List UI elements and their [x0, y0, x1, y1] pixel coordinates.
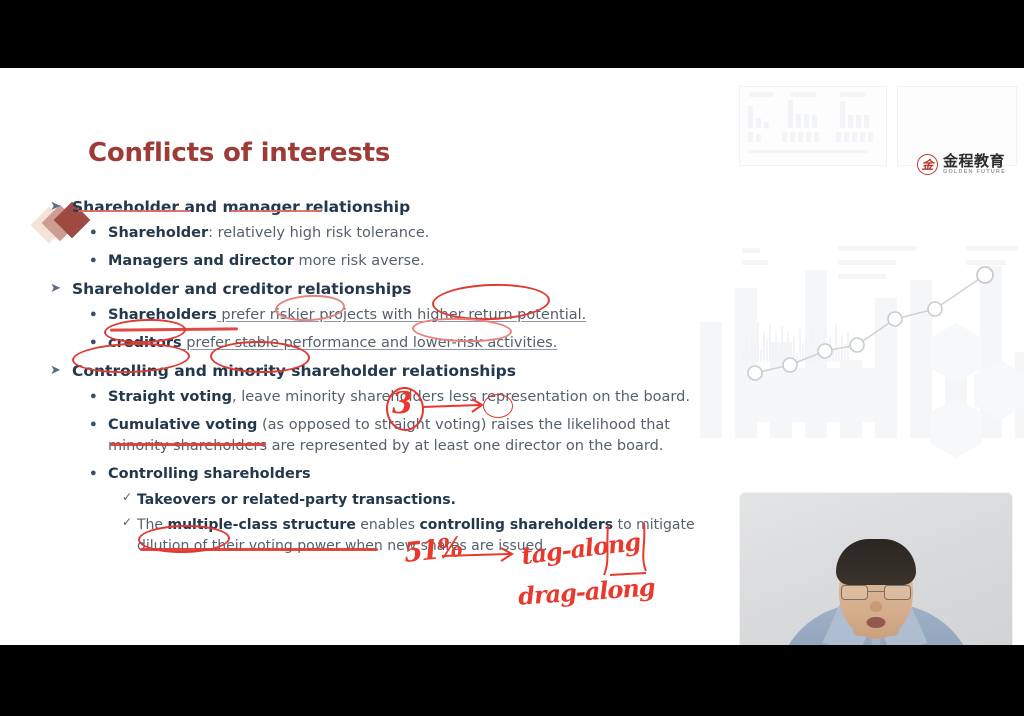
deco-bars-2: [788, 98, 817, 128]
dot-bullet-icon: ●: [90, 464, 108, 485]
letterbox-top: [0, 0, 1024, 68]
check-bullet-icon: ✓: [122, 490, 137, 510]
section-heading-1-text: Shareholder and manager relationship: [72, 198, 410, 216]
deco-label-7: [966, 260, 1006, 265]
deco-hexagon-2: [974, 360, 1024, 420]
deco-bars-3: [840, 98, 869, 128]
section-heading-3: ➤ Controlling and minority shareholder r…: [50, 362, 710, 380]
list-item-text: Shareholders prefer riskier projects wit…: [108, 305, 586, 326]
list-item-text: Shareholder: relatively high risk tolera…: [108, 223, 429, 244]
list-item-text: Controlling shareholders: [108, 464, 311, 485]
deco-sparkline: [742, 320, 849, 362]
glasses-lens-right: [884, 585, 911, 600]
deco-text-3: [840, 92, 866, 97]
list-item-text: creditors prefer stable performance and …: [108, 333, 557, 354]
letterbox-bottom: [0, 645, 1024, 716]
deco-axis-1: [748, 150, 868, 153]
video-person-hair: [836, 539, 916, 585]
section-heading-1: ➤ Shareholder and manager relationship: [50, 198, 710, 216]
list-item-text: Straight voting, leave minority sharehol…: [108, 387, 690, 408]
deco-text-1: [749, 92, 773, 97]
list-item-rest: prefer stable performance and lower-risk…: [182, 335, 558, 351]
instructor-video-feed[interactable]: [740, 493, 1012, 645]
sub-bold-b: controlling shareholders: [419, 517, 613, 533]
deco-big-bars: [700, 258, 1024, 438]
brand-logo: 金 金程教育 GOLDEN FUTURE: [917, 154, 1006, 176]
glasses-lens-left: [841, 585, 868, 600]
deco-card-1: [739, 86, 887, 166]
deco-hexagon-3: [930, 398, 982, 458]
list-item: ● Straight voting, leave minority shareh…: [50, 387, 710, 408]
sub-list-item-text: The multiple-class structure enables con…: [137, 515, 710, 556]
deco-bars-5: [782, 130, 819, 142]
dot-bullet-icon: ●: [90, 251, 108, 272]
logo-english-name: GOLDEN FUTURE: [943, 170, 1006, 176]
section-heading-2-text: Shareholder and creditor relationships: [72, 280, 412, 298]
deco-label-4: [838, 260, 896, 265]
sub-list-item-rest: or related-party transactions.: [216, 492, 456, 508]
dot-bullet-icon: ●: [90, 387, 108, 408]
sub-mid: enables: [356, 517, 420, 533]
video-player-screen: 金 金程教育 GOLDEN FUTURE Conflicts of intere…: [0, 0, 1024, 716]
check-bullet-icon: ✓: [122, 515, 137, 556]
annotation-handwriting-drag-along: drag-along: [517, 572, 655, 610]
section-heading-3-text: Controlling and minority shareholder rel…: [72, 362, 516, 380]
arrow-bullet-icon: ➤: [50, 280, 72, 298]
sub-bold-a: multiple-class structure: [168, 517, 356, 533]
section-heading-2: ➤ Shareholder and creditor relationships: [50, 280, 710, 298]
list-item: ● Shareholder: relatively high risk tole…: [50, 223, 710, 244]
slide-body: ➤ Shareholder and manager relationship ●…: [50, 190, 710, 556]
slide-stage: 金 金程教育 GOLDEN FUTURE Conflicts of intere…: [0, 68, 1024, 645]
page-title: Conflicts of interests: [88, 138, 390, 168]
list-item-rest: : relatively high risk tolerance.: [208, 225, 429, 241]
list-item: ● creditors prefer stable performance an…: [50, 333, 710, 354]
sub-list-item: ✓ The multiple-class structure enables c…: [50, 515, 710, 556]
sub-lead: The: [137, 517, 168, 533]
dot-bullet-icon: ●: [90, 223, 108, 244]
slide-title-text: Conflicts of interests: [88, 138, 390, 168]
sub-list-item-bold: Takeovers: [137, 492, 216, 508]
deco-text-2: [790, 92, 816, 97]
list-item-rest: more risk averse.: [294, 253, 425, 269]
list-item: ● Shareholders prefer riskier projects w…: [50, 305, 710, 326]
video-person-nose: [870, 601, 882, 612]
list-item-bold: Managers and director: [108, 253, 294, 269]
sub-list-item: ✓ Takeovers or related-party transaction…: [50, 490, 710, 510]
deco-line-chart: [735, 253, 1024, 393]
list-item: ● Cumulative voting (as opposed to strai…: [50, 415, 710, 457]
deco-bars-4: [748, 130, 761, 142]
arrow-bullet-icon: ➤: [50, 198, 72, 216]
deco-label-1: [742, 248, 760, 253]
list-item-bold: Straight voting: [108, 389, 232, 405]
deco-hexagon-1: [930, 323, 982, 383]
glasses-icon: [841, 585, 911, 602]
arrow-bullet-icon: ➤: [50, 362, 72, 380]
deco-label-3: [838, 246, 916, 251]
logo-wordmark: 金程教育 GOLDEN FUTURE: [943, 154, 1006, 176]
list-item-bold: Cumulative voting: [108, 417, 257, 433]
list-item-rest: prefer riskier projects with higher retu…: [217, 307, 586, 323]
list-item-bold: Shareholder: [108, 225, 208, 241]
list-item-text: Cumulative voting (as opposed to straigh…: [108, 415, 710, 457]
deco-label-5: [838, 274, 886, 279]
list-item: ● Managers and director more risk averse…: [50, 251, 710, 272]
deco-label-6: [966, 246, 1018, 251]
list-item-bold: creditors: [108, 335, 182, 351]
deco-label-2: [742, 260, 768, 265]
deco-card-3: [739, 368, 889, 422]
list-item: ● Controlling shareholders: [50, 464, 710, 485]
video-person-mouth: [867, 617, 886, 628]
sub-list-item-text: Takeovers or related-party transactions.: [137, 490, 456, 510]
logo-chinese-name: 金程教育: [943, 154, 1006, 169]
glasses-bridge: [868, 591, 884, 592]
deco-bars-6: [836, 130, 873, 142]
list-item-bold: Controlling shareholders: [108, 466, 311, 482]
dot-bullet-icon: ●: [90, 333, 108, 354]
logo-mark-icon: 金: [917, 154, 938, 175]
list-item-bold: Shareholders: [108, 307, 217, 323]
dot-bullet-icon: ●: [90, 305, 108, 326]
dot-bullet-icon: ●: [90, 415, 108, 457]
list-item-rest: , leave minority shareholders less repre…: [232, 389, 690, 405]
list-item-text: Managers and director more risk averse.: [108, 251, 425, 272]
deco-bars-1: [748, 104, 769, 128]
